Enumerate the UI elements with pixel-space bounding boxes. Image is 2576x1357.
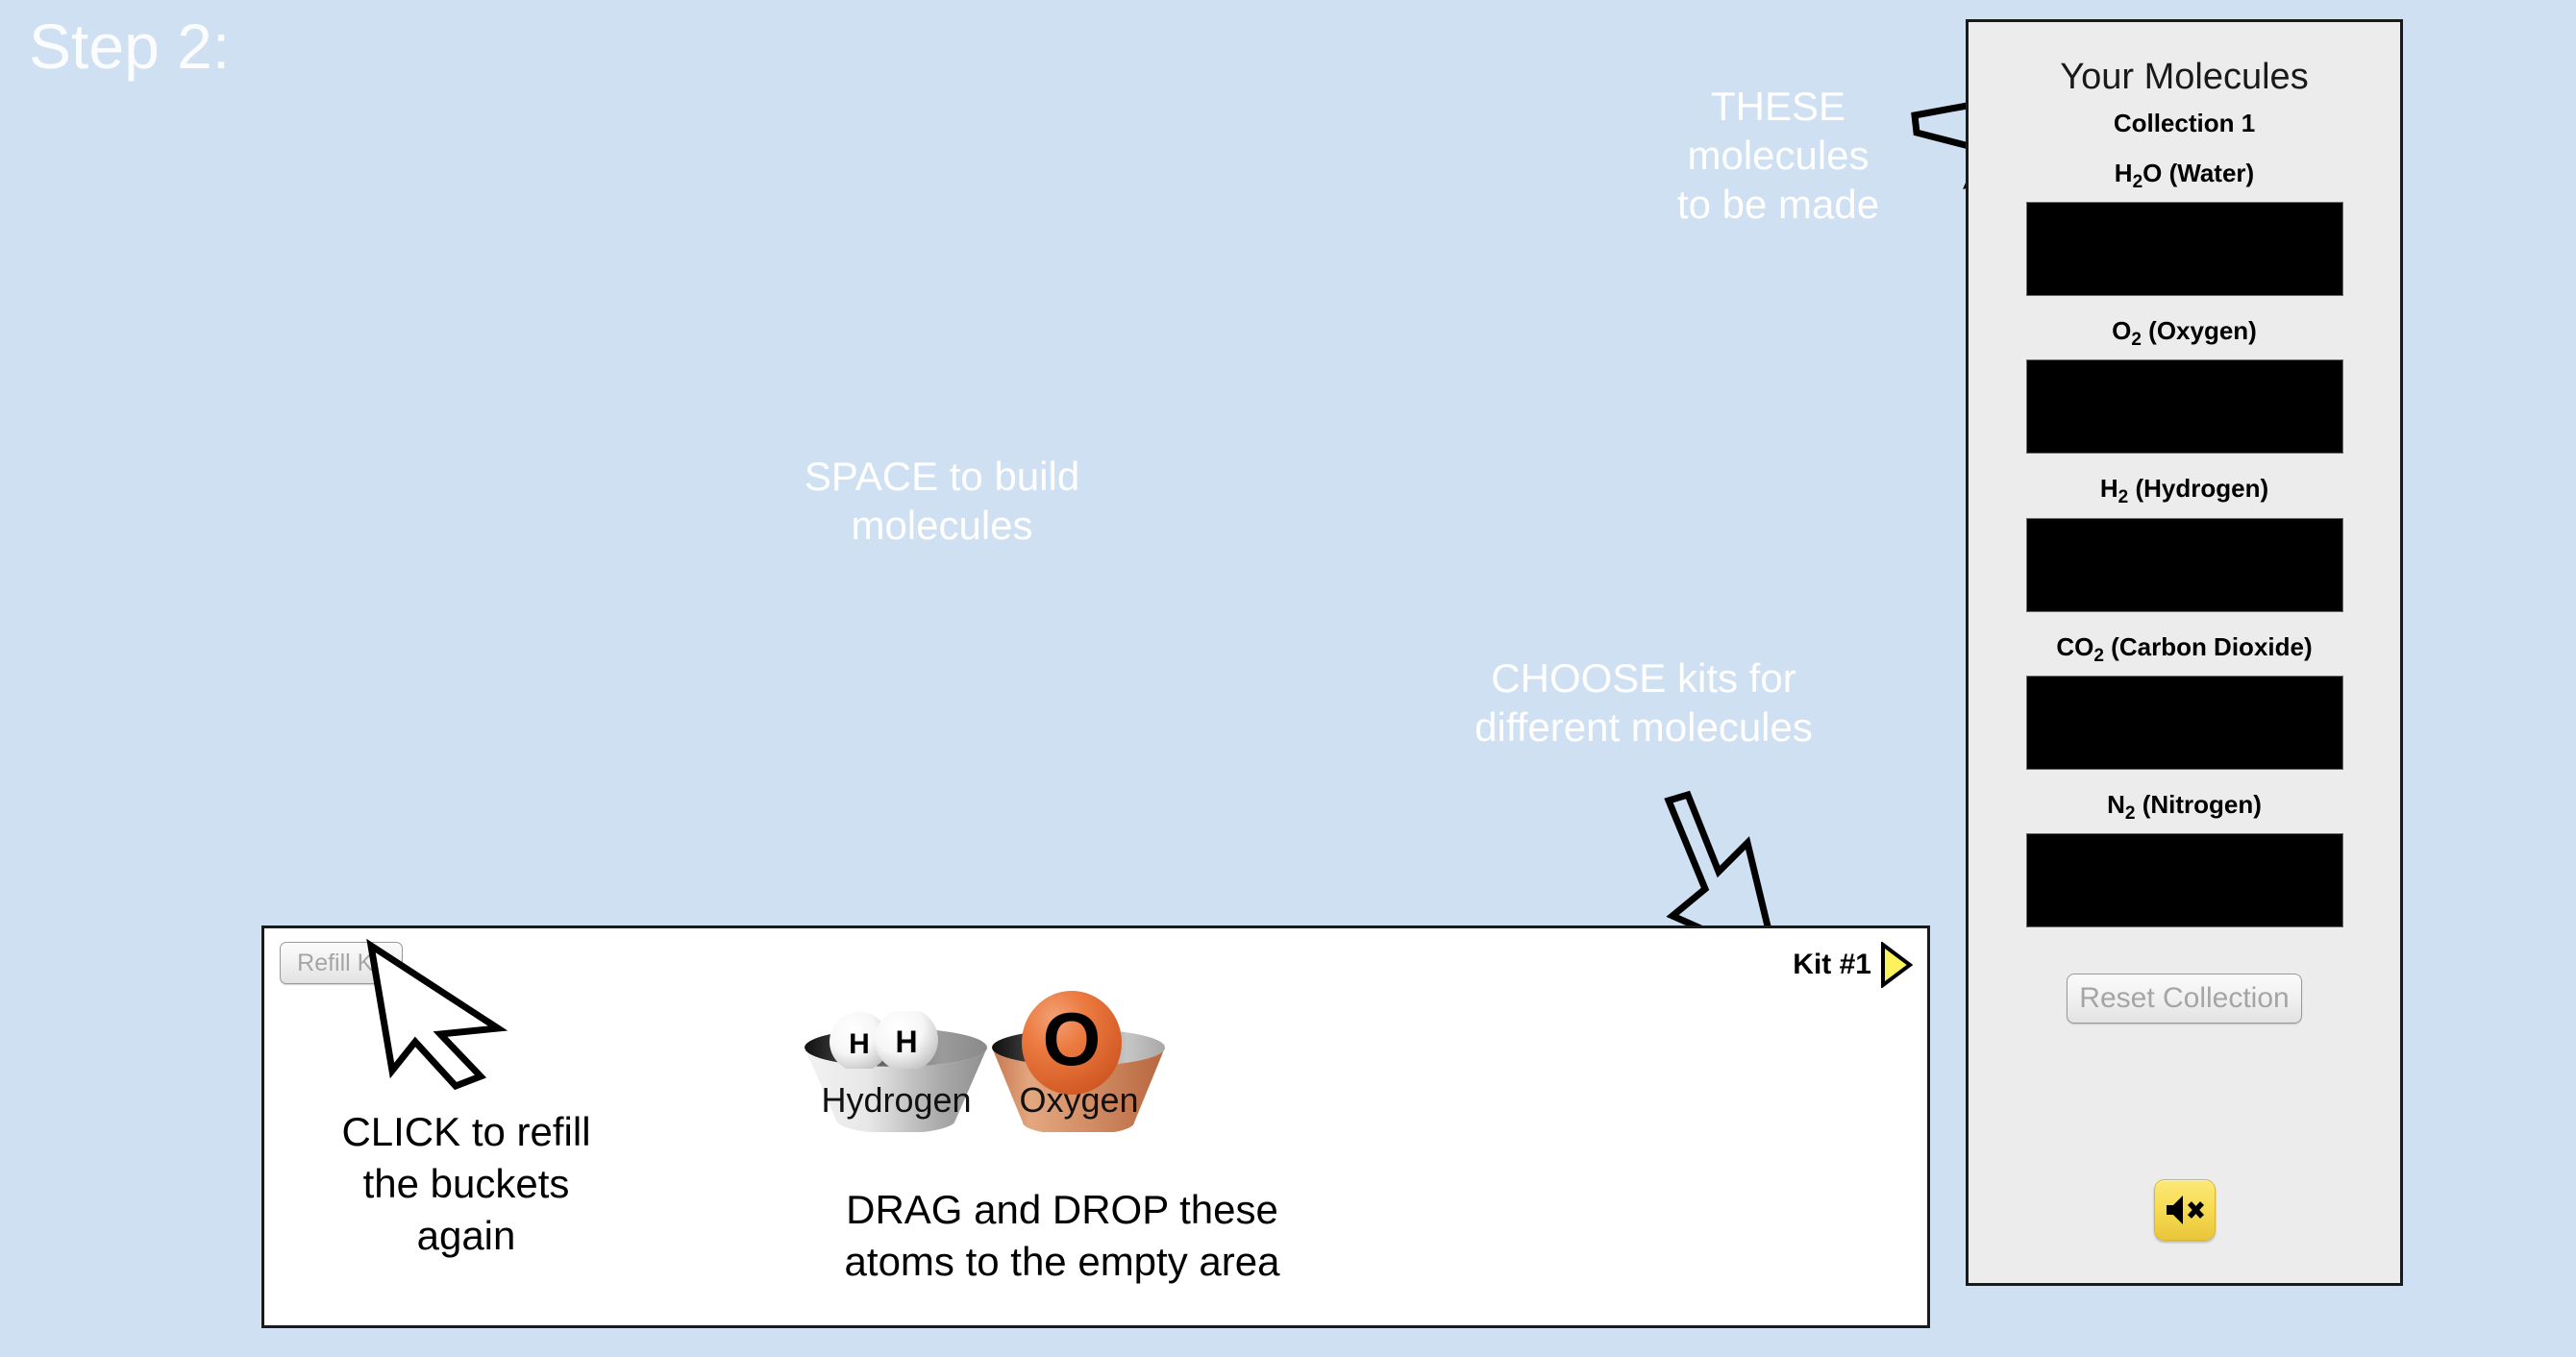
kit-selector: Kit #1 [1793, 942, 1914, 988]
molecule-preview-hydrogen[interactable] [2026, 518, 2343, 612]
molecule-label-oxygen: O2 (Oxygen) [1969, 316, 2400, 351]
caption-drag-and-drop: DRAG and DROP these atoms to the empty a… [745, 1184, 1379, 1288]
kit-number-label: Kit #1 [1793, 949, 1871, 981]
mute-button[interactable] [2154, 1179, 2216, 1241]
molecule-label-hydrogen: H2 (Hydrogen) [1969, 474, 2400, 508]
molecule-entry-water: H2O (Water) [1969, 159, 2400, 296]
annotation-choose-kits: CHOOSE kits for different molecules [1394, 654, 1894, 752]
svg-text:H: H [895, 1024, 917, 1059]
molecule-entry-nitrogen: N2 (Nitrogen) [1969, 790, 2400, 927]
reset-collection-button[interactable]: Reset Collection [2067, 974, 2302, 1024]
molecule-preview-carbon-dioxide[interactable] [2026, 676, 2343, 770]
annotation-space-to-build: SPACE to build molecules [711, 452, 1173, 550]
molecule-label-carbon-dioxide: CO2 (Carbon Dioxide) [1969, 632, 2400, 667]
your-molecules-panel: Your Molecules Collection 1 H2O (Water) … [1966, 19, 2403, 1286]
molecule-preview-nitrogen[interactable] [2026, 833, 2343, 927]
speaker-mute-icon [2165, 1193, 2205, 1227]
annotation-these-molecules: THESE molecules to be made [1634, 82, 1922, 230]
molecule-label-nitrogen: N2 (Nitrogen) [1969, 790, 2400, 825]
triangle-right-icon[interactable] [1879, 942, 1914, 988]
caption-click-to-refill: CLICK to refill the buckets again [284, 1106, 649, 1261]
molecule-preview-oxygen[interactable] [2026, 359, 2343, 454]
bucket-hydrogen[interactable]: Hydrogen H H [803, 1026, 990, 1137]
molecule-entry-carbon-dioxide: CO2 (Carbon Dioxide) [1969, 632, 2400, 770]
molecule-entry-oxygen: O2 (Oxygen) [1969, 316, 2400, 454]
kit-panel: Refill Kit Kit #1 [261, 925, 1930, 1328]
molecule-entry-hydrogen: H2 (Hydrogen) [1969, 474, 2400, 611]
refill-kit-cursor [365, 942, 509, 1076]
svg-text:O: O [1043, 997, 1102, 1081]
hydrogen-atoms[interactable]: H H [826, 1011, 951, 1069]
molecule-label-water: H2O (Water) [1969, 159, 2400, 193]
bucket-oxygen[interactable]: Oxygen O [990, 1026, 1168, 1137]
molecule-preview-water[interactable] [2026, 202, 2343, 296]
collection-label: Collection 1 [1969, 109, 2400, 138]
page-title: Step 2: [29, 10, 230, 83]
molecules-panel-title: Your Molecules [1969, 57, 2400, 98]
svg-text:H: H [849, 1028, 870, 1060]
oxygen-atom[interactable]: O [1019, 990, 1125, 1096]
